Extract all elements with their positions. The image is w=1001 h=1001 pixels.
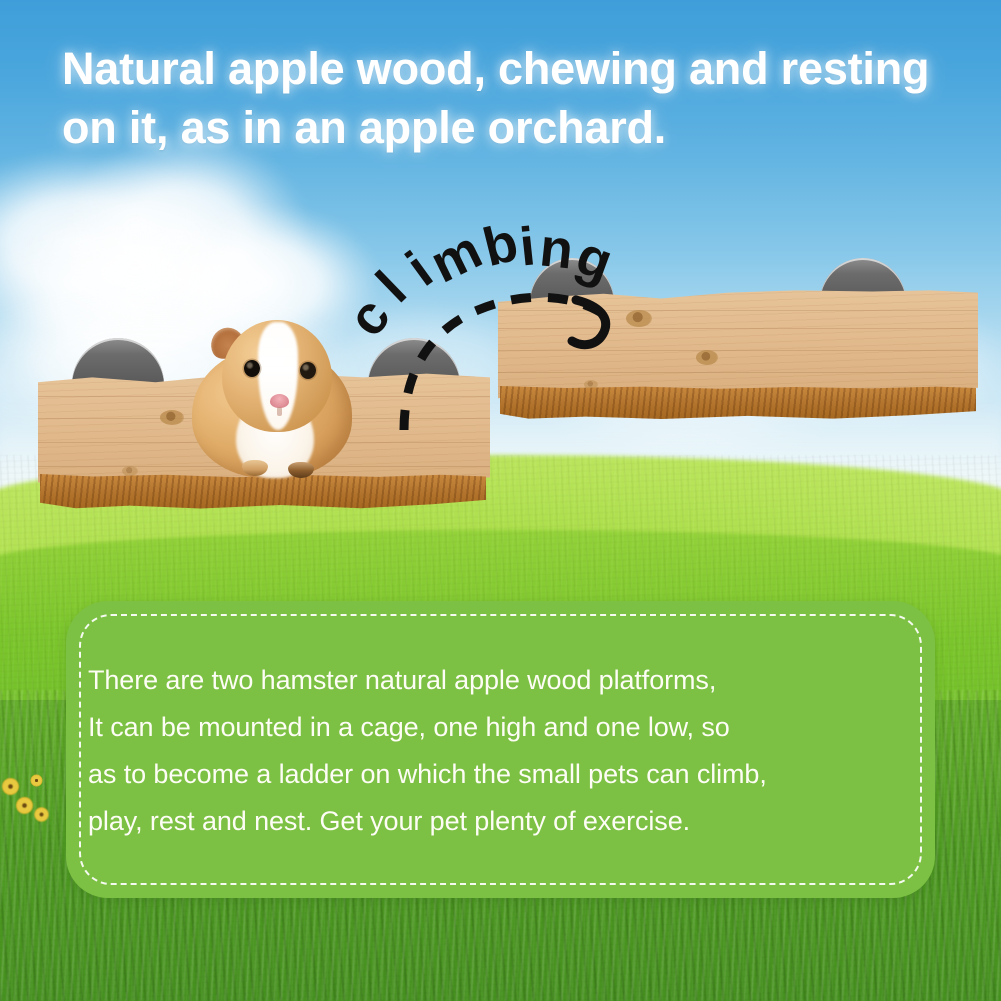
wood-knot	[122, 466, 138, 476]
plank-bark-edge	[500, 386, 976, 420]
flower-icon	[16, 797, 33, 814]
flower-icon	[31, 775, 43, 787]
guinea-pig-paw-right	[288, 462, 314, 478]
flower-icon	[2, 778, 19, 795]
guinea-pig-photo	[188, 302, 358, 480]
wood-knot	[696, 350, 718, 365]
wood-grain	[498, 372, 978, 373]
description-text: There are two hamster natural apple wood…	[88, 657, 915, 845]
guinea-pig-mouth	[277, 407, 282, 416]
wood-grain	[498, 350, 978, 351]
page-title: Natural apple wood, chewing and resting …	[62, 40, 962, 157]
wood-knot	[626, 310, 652, 327]
flower-icon	[34, 807, 48, 821]
wood-grain	[498, 310, 978, 311]
wood-grain	[498, 328, 978, 329]
guinea-pig-eye-right	[300, 362, 316, 379]
description-panel: There are two hamster natural apple wood…	[66, 601, 935, 898]
guinea-pig-nose	[270, 394, 289, 408]
guinea-pig-eye-left	[244, 360, 260, 377]
wood-platform-high	[498, 258, 978, 428]
product-feature-image: Natural apple wood, chewing and resting …	[0, 0, 1001, 1001]
wood-knot	[160, 410, 184, 425]
suction-cup-mount	[72, 338, 164, 384]
plank-surface	[498, 288, 978, 404]
